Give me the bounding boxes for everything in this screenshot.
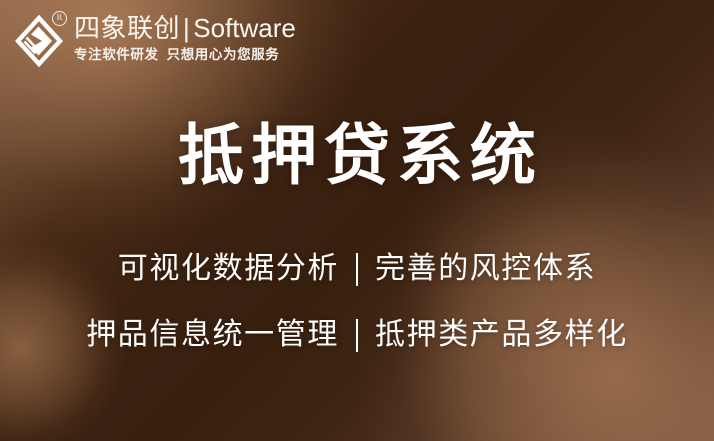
- brand-lockup: R 四象联创|Software 专注软件研发只想用心为您服务: [14, 10, 296, 68]
- feature-right-label: 完善的风控体系: [375, 236, 596, 302]
- feature-left-label: 可视化数据分析: [118, 236, 339, 302]
- brand-slogan-part1: 专注软件研发: [74, 47, 159, 62]
- page-title: 抵押贷系统: [0, 116, 714, 194]
- feature-row: 可视化数据分析 完善的风控体系: [0, 236, 714, 302]
- brand-slogan-part2: 只想用心为您服务: [167, 47, 280, 62]
- feature-divider: [356, 253, 358, 286]
- registered-trademark-icon: R: [52, 11, 67, 26]
- feature-divider: [356, 319, 358, 352]
- brand-slogan: 专注软件研发只想用心为您服务: [74, 45, 296, 65]
- brand-name-separator: |: [180, 12, 193, 44]
- feature-row: 押品信息统一管理 抵押类产品多样化: [0, 302, 714, 368]
- brand-name-latin: Software: [193, 13, 296, 43]
- brand-text-block: 四象联创|Software 专注软件研发只想用心为您服务: [74, 10, 296, 65]
- company-logo: R: [14, 10, 64, 68]
- promo-banner: R 四象联创|Software 专注软件研发只想用心为您服务 抵押贷系统 可视化…: [0, 0, 714, 441]
- feature-left-label: 押品信息统一管理: [86, 302, 339, 368]
- brand-name: 四象联创|Software: [74, 12, 296, 44]
- feature-list: 可视化数据分析 完善的风控体系 押品信息统一管理 抵押类产品多样化: [0, 236, 714, 368]
- brand-name-cn: 四象联创: [74, 13, 180, 43]
- feature-right-label: 抵押类产品多样化: [375, 302, 628, 368]
